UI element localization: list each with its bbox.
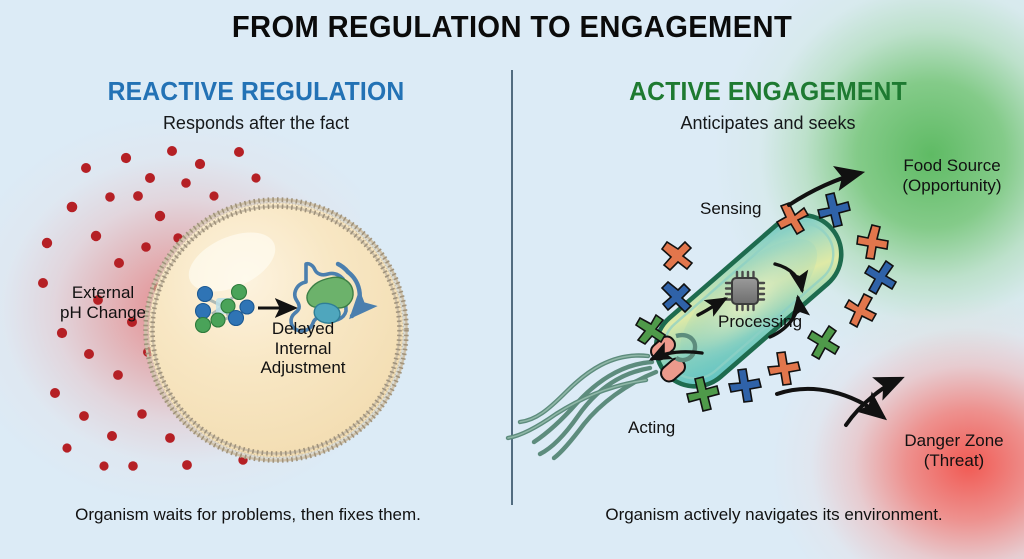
left-panel-heading: REACTIVE REGULATION: [13, 76, 499, 107]
flagella-bundle: [508, 355, 656, 458]
panel-divider: [511, 70, 513, 505]
microchip-icon: [726, 272, 764, 310]
right-panel-subheading: Anticipates and seeks: [512, 113, 1024, 134]
membrane-receptors: [636, 193, 896, 411]
left-panel-header: REACTIVE REGULATION Responds after the f…: [0, 76, 512, 134]
environment-arrows: [777, 173, 900, 425]
diagram-canvas: FROM REGULATION TO ENGAGEMENT REACTIVE R…: [0, 0, 1024, 559]
bacterium-body: [640, 199, 857, 402]
label-food-source: Food Source (Opportunity): [880, 156, 1024, 195]
arrow-to-danger-zone: [777, 389, 883, 417]
arrow-to-food-source: [789, 173, 860, 205]
flagellar-basal-bodies: [648, 333, 695, 384]
label-external-ph-change: External pH Change: [43, 283, 163, 322]
left-panel-caption: Organism waits for problems, then fixes …: [0, 505, 504, 525]
label-acting: Acting: [628, 418, 675, 438]
right-panel-caption: Organism actively navigates its environm…: [518, 505, 1024, 525]
right-panel-header: ACTIVE ENGAGEMENT Anticipates and seeks: [512, 76, 1024, 134]
label-delayed-internal-adjustment: Delayed Internal Adjustment: [243, 319, 363, 378]
right-panel-heading: ACTIVE ENGAGEMENT: [525, 76, 1011, 107]
label-danger-zone: Danger Zone (Threat): [884, 431, 1024, 470]
label-processing: Processing: [718, 312, 802, 332]
flagella-highlight: [508, 355, 648, 438]
label-sensing: Sensing: [700, 199, 761, 219]
arrow-to-food-source-secondary: [846, 379, 900, 425]
page-title: FROM REGULATION TO ENGAGEMENT: [31, 9, 994, 45]
left-panel-subheading: Responds after the fact: [0, 113, 512, 134]
